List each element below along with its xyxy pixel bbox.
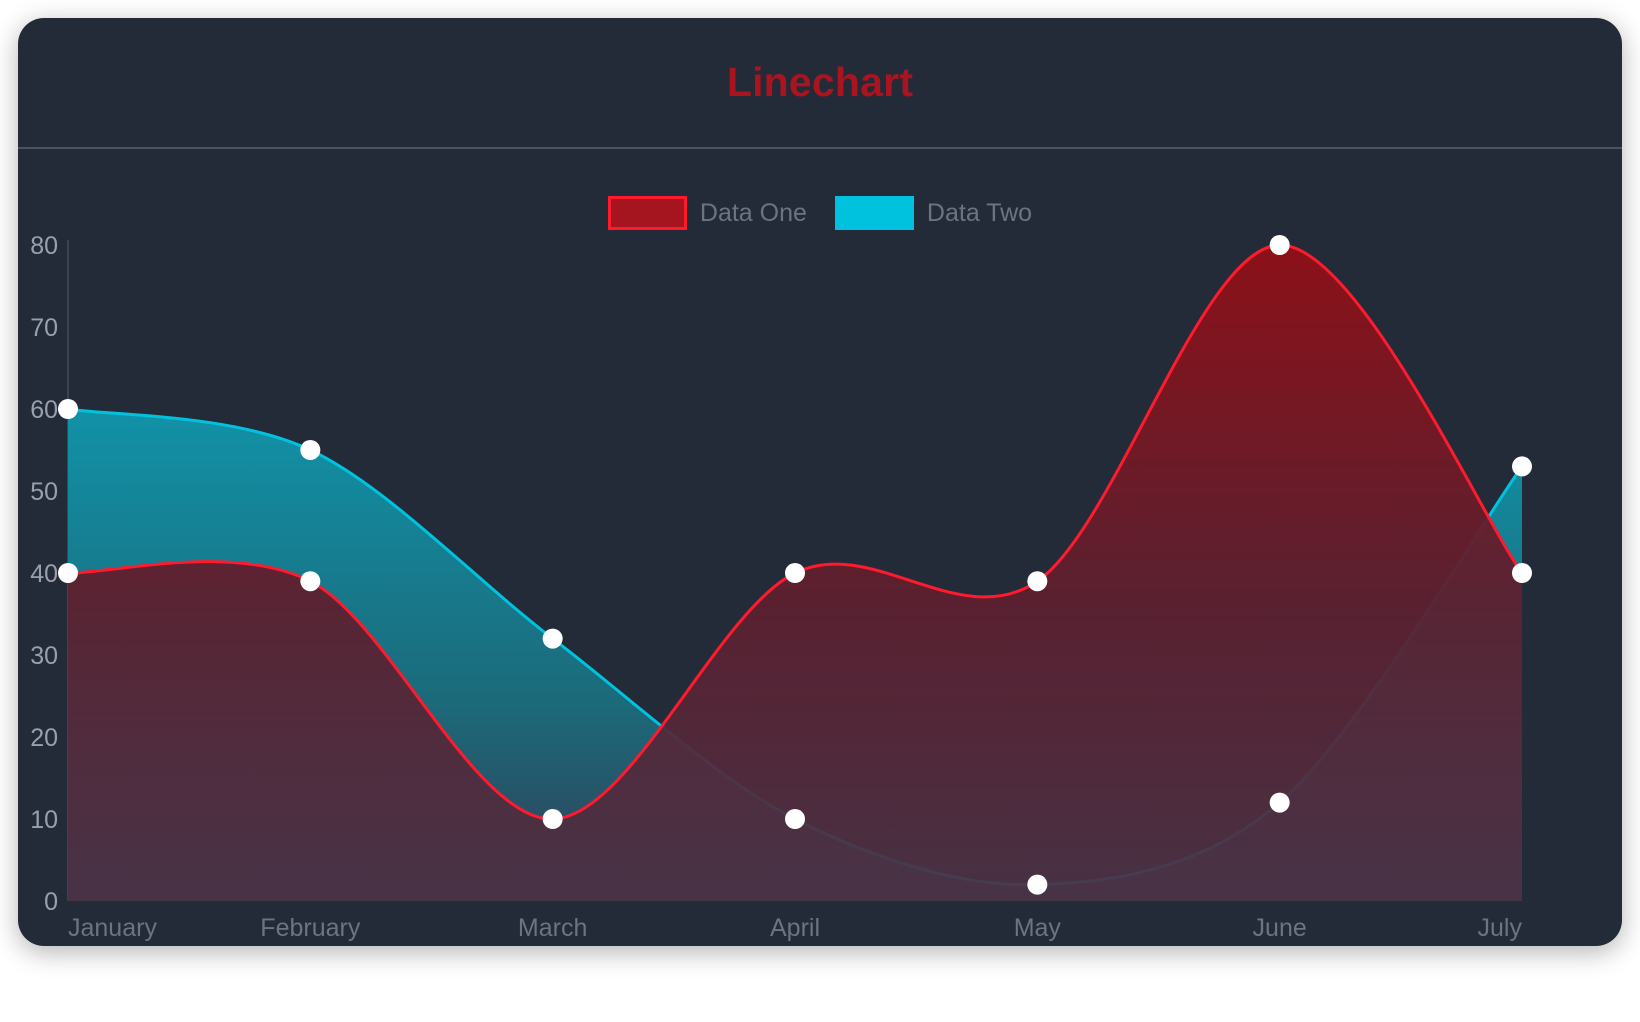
data-point[interactable]: [785, 563, 805, 583]
x-axis-tick-label: February: [260, 914, 361, 942]
data-point[interactable]: [1512, 563, 1532, 583]
data-point[interactable]: [543, 809, 563, 829]
y-axis-tick-label: 10: [30, 806, 58, 834]
x-axis-tick-label: April: [770, 914, 820, 942]
x-axis-tick-label: March: [518, 914, 587, 942]
y-axis-tick-label: 80: [30, 232, 58, 260]
data-point[interactable]: [300, 571, 320, 591]
data-point[interactable]: [1270, 235, 1290, 255]
x-axis-tick-label: January: [68, 914, 157, 942]
x-axis-tick-label: June: [1253, 914, 1307, 942]
y-axis-tick-label: 50: [30, 478, 58, 506]
x-axis: JanuaryFebruaryMarchAprilMayJuneJuly: [68, 914, 1522, 942]
y-axis-tick-label: 70: [30, 314, 58, 342]
data-point[interactable]: [58, 563, 78, 583]
y-axis-tick-label: 30: [30, 642, 58, 670]
linechart-svg: 01020304050607080 JanuaryFebruaryMarchAp…: [18, 18, 1622, 946]
x-axis-tick-label: May: [1014, 914, 1062, 942]
y-axis-tick-label: 40: [30, 560, 58, 588]
chart-plot-area: 01020304050607080 JanuaryFebruaryMarchAp…: [18, 18, 1622, 946]
linechart-card: Linechart Data One Data Two: [18, 18, 1622, 946]
y-axis-tick-label: 60: [30, 396, 58, 424]
data-point[interactable]: [543, 629, 563, 649]
y-axis-tick-label: 0: [44, 888, 58, 916]
data-point[interactable]: [1027, 875, 1047, 895]
data-point[interactable]: [1027, 571, 1047, 591]
y-axis-tick-label: 20: [30, 724, 58, 752]
data-point[interactable]: [58, 399, 78, 419]
data-point[interactable]: [1270, 793, 1290, 813]
data-point[interactable]: [300, 440, 320, 460]
x-axis-tick-label: July: [1478, 914, 1523, 942]
y-axis: 01020304050607080: [30, 232, 58, 916]
data-point[interactable]: [785, 809, 805, 829]
data-point[interactable]: [1512, 456, 1532, 476]
